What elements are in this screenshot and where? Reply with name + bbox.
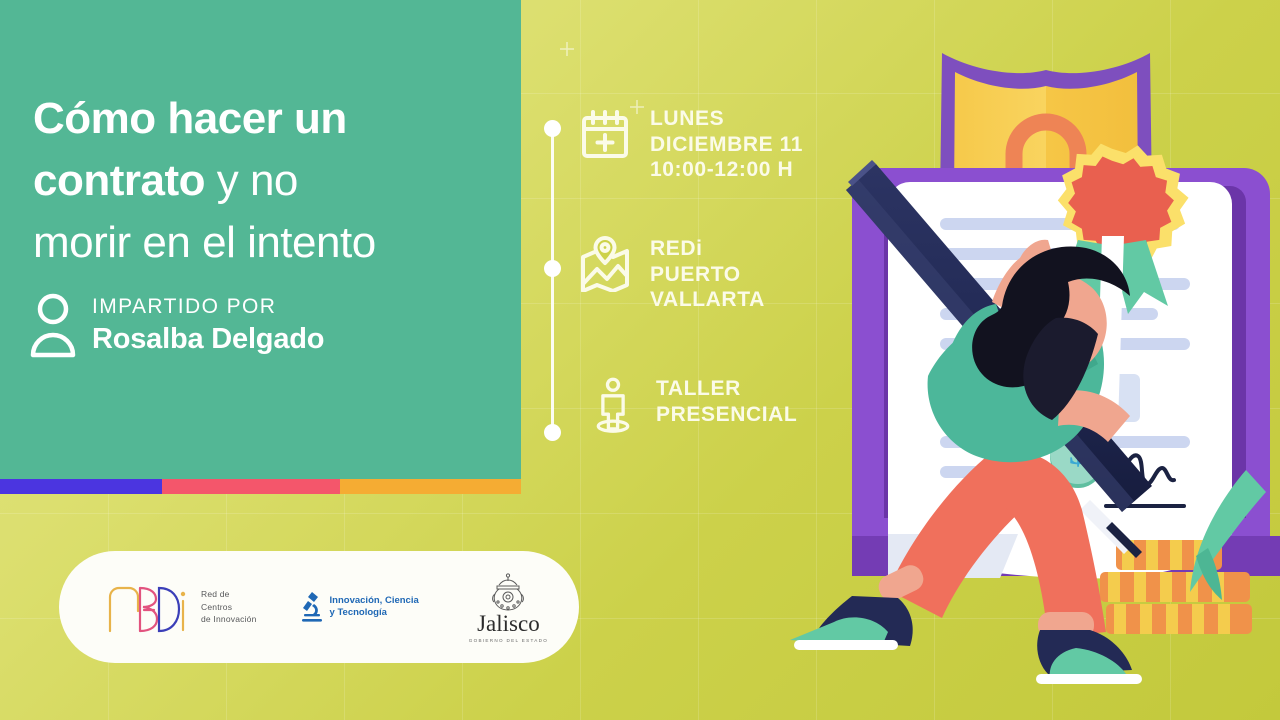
person-icon [30,292,76,358]
timeline-dot [544,260,561,277]
info-text-date: LUNES DICIEMBRE 11 10:00-12:00 H [650,106,803,183]
info-item-location: REDi PUERTO VALLARTA [580,236,765,313]
info-item-modality: TALLER PRESENCIAL [590,376,797,432]
stripe-segment-pink [162,479,340,494]
modality-line-2: PRESENCIAL [656,402,797,428]
ict-caption: Innovación, Ciencia y Tecnología [330,595,419,620]
title-text-3: y no [205,156,298,205]
info-text-modality: TALLER PRESENCIAL [656,376,797,427]
title-line-2: contrato y no [33,150,503,212]
location-line-1: REDi [650,236,765,262]
redi-monogram-icon [104,581,189,633]
logo-innovacion-ciencia-tecnologia: Innovación, Ciencia y Tecnología [301,590,419,624]
poster-canvas: B $ [0,0,1280,720]
poster-title: Cómo hacer un contrato y no morir en el … [33,88,503,274]
stripe-segment-blue [0,479,162,494]
logo-jalisco: Jalisco GOBIERNO DEL ESTADO [469,572,548,643]
accent-stripe [0,479,521,494]
standing-person-icon [590,376,640,432]
jalisco-crest-icon [485,572,531,612]
jalisco-subtitle: GOBIERNO DEL ESTADO [469,638,548,643]
event-details-timeline: LUNES DICIEMBRE 11 10:00-12:00 H REDi [540,0,870,720]
redi-caption-line-3: de Innovación [201,613,257,626]
title-line-1: Cómo hacer un [33,88,503,150]
timeline-line [551,128,554,433]
title-line-3: morir en el intento [33,212,503,274]
title-text-1: Cómo hacer un [33,94,347,143]
sponsor-logo-bar: Red de Centros de Innovación Inn [59,551,579,663]
redi-caption: Red de Centros de Innovación [201,588,257,626]
modality-line-1: TALLER [656,376,797,402]
title-text-2: contrato [33,156,205,205]
logo-redi: Red de Centros de Innovación [104,581,257,633]
location-line-3: VALLARTA [650,287,765,313]
shoe [1036,630,1142,684]
ict-caption-line-2: y Tecnología [330,607,419,620]
timeline-dot [544,424,561,441]
date-line-1: LUNES [650,106,803,132]
date-line-2: DICIEMBRE 11 [650,132,803,158]
speaker-name: Rosalba Delgado [92,322,324,356]
speaker-block: IMPARTIDO POR Rosalba Delgado [30,292,324,358]
microscope-icon [301,590,323,624]
info-text-location: REDi PUERTO VALLARTA [650,236,765,313]
redi-caption-line-2: Centros [201,601,257,614]
calendar-plus-icon [580,106,630,162]
redi-caption-line-1: Red de [201,588,257,601]
ict-caption-line-1: Innovación, Ciencia [330,595,419,608]
info-item-date: LUNES DICIEMBRE 11 10:00-12:00 H [580,106,803,183]
map-pin-icon [580,236,630,292]
speaker-label: IMPARTIDO POR [92,294,324,320]
title-panel: Cómo hacer un contrato y no morir en el … [0,0,521,479]
speaker-text: IMPARTIDO POR Rosalba Delgado [92,294,324,356]
date-line-3: 10:00-12:00 H [650,157,803,183]
jalisco-wordmark: Jalisco [477,611,540,637]
location-line-2: PUERTO [650,262,765,288]
stripe-segment-orange [340,479,521,494]
title-text-4: morir en el intento [33,218,376,267]
timeline-dot [544,120,561,137]
